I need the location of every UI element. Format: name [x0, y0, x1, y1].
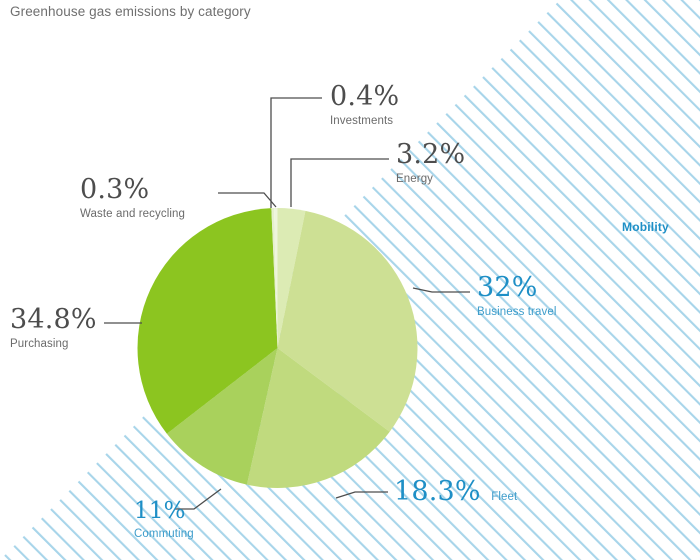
slice-label-purchasing: 34.8% Purchasing: [10, 306, 97, 351]
slice-percent-purchasing: 34.8%: [10, 304, 97, 335]
group-label-mobility-text: Mobility: [622, 220, 669, 234]
slice-name-waste: Waste and recycling: [80, 209, 185, 221]
slice-label-waste-and-recycling: 0.3% Waste and recycling: [80, 176, 185, 221]
leader-line-waste: [218, 193, 276, 207]
slice-percent-investments: 0.4%: [330, 81, 399, 112]
slice-percent-business-travel: 32%: [477, 272, 538, 303]
slice-name-purchasing: Purchasing: [10, 339, 97, 351]
group-label-mobility: Mobility: [622, 219, 669, 235]
slice-label-fleet: 18.3% Fleet: [394, 478, 517, 505]
page-title: Greenhouse gas emissions by category: [10, 4, 251, 19]
slice-name-fleet: Fleet: [491, 491, 517, 503]
slice-label-energy: 3.2% Energy: [396, 141, 465, 186]
slice-percent-fleet: 18.3%: [394, 476, 481, 507]
leader-line-energy: [291, 159, 389, 207]
slice-percent-commuting: 11%: [134, 498, 186, 524]
leader-line-business-travel: [413, 288, 470, 292]
slice-label-commuting: 11% Commuting: [134, 500, 194, 541]
slice-label-business-travel: 32% Business travel: [477, 274, 556, 319]
slice-name-investments: Investments: [330, 116, 399, 128]
slice-name-commuting: Commuting: [134, 529, 194, 541]
slice-percent-waste: 0.3%: [80, 174, 149, 205]
slice-name-energy: Energy: [396, 174, 465, 186]
leader-line-fleet: [336, 492, 388, 498]
pie-slice-group: [138, 208, 418, 488]
slice-label-investments: 0.4% Investments: [330, 83, 399, 128]
leader-line-investments: [271, 98, 322, 208]
slice-percent-energy: 3.2%: [396, 139, 465, 170]
slice-name-business-travel: Business travel: [477, 307, 556, 319]
chart-canvas: Greenhouse gas emissions by category 0.4…: [0, 0, 700, 560]
